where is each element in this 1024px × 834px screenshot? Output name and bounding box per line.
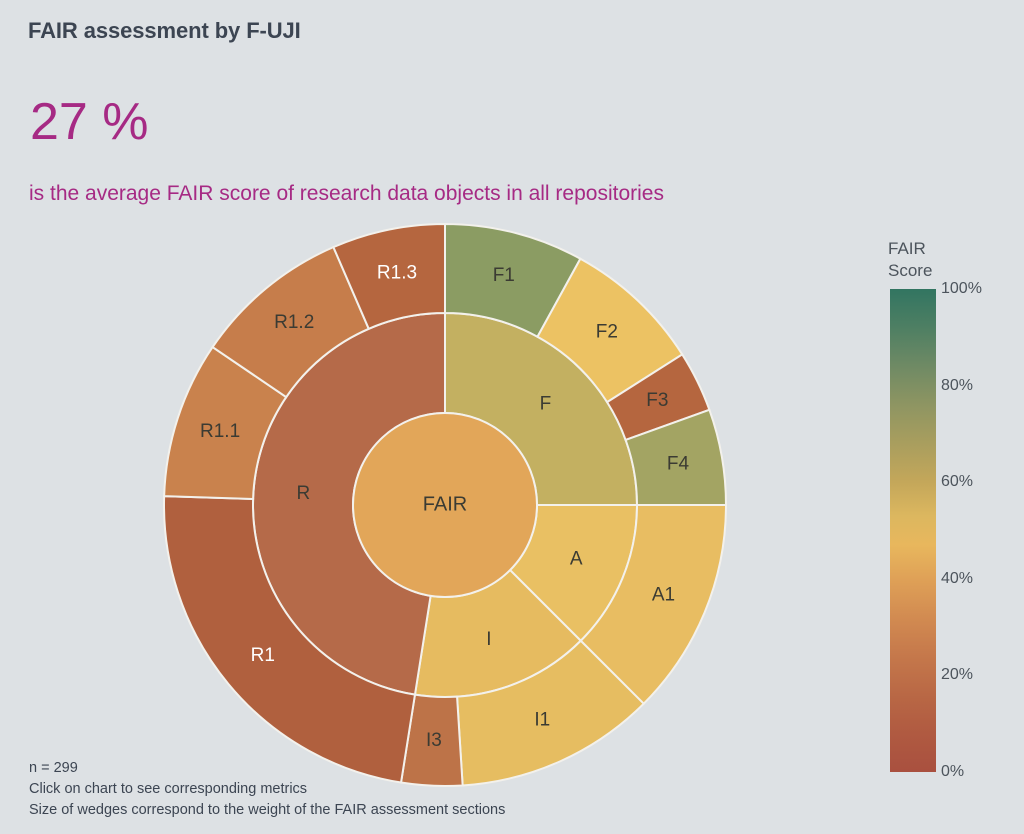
colorbar-tick-100: 100% [941, 280, 982, 298]
colorbar-tick-20: 20% [941, 666, 973, 684]
sample-size-note: n = 299 [29, 758, 505, 779]
center-circle-shape[interactable] [353, 413, 537, 597]
colorbar-gradient [890, 289, 936, 772]
fair-sunburst-chart[interactable]: FAIRF1F2F3F4A1I1I3R1R1.1R1.2R1.3FAIR [0, 0, 1024, 834]
legend-title-line1: FAIR [888, 238, 932, 260]
colorbar-tick-0: 0% [941, 763, 964, 781]
legend-title: FAIR Score [888, 238, 932, 282]
click-hint-note: Click on chart to see corresponding metr… [29, 779, 505, 800]
wedge-size-note: Size of wedges correspond to the weight … [29, 800, 505, 821]
colorbar-ticks: 100%80%60%40%20%0% [941, 289, 1021, 772]
sunburst-center-FAIR[interactable]: FAIR [353, 413, 537, 597]
chart-page: FAIR assessment by F-UJI 27 % is the ave… [0, 0, 1024, 834]
chart-footnotes: n = 299 Click on chart to see correspond… [29, 758, 505, 821]
colorbar-tick-60: 60% [941, 473, 973, 491]
colorbar-tick-40: 40% [941, 570, 973, 588]
legend-title-line2: Score [888, 260, 932, 282]
colorbar [890, 289, 936, 772]
colorbar-tick-80: 80% [941, 377, 973, 395]
